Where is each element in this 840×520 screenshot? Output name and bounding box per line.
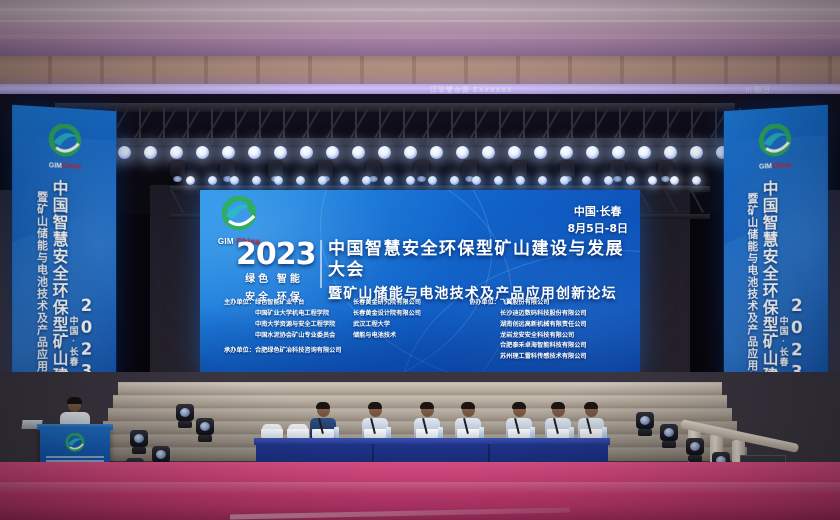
banner-left-logo-gim: GIM xyxy=(49,162,62,170)
led-slogan-line1: 绿色 智能 xyxy=(236,273,312,288)
par-light xyxy=(692,176,701,185)
moving-head-lens xyxy=(156,450,166,459)
banner-left-city: 中国·长春 xyxy=(68,315,77,366)
led-cohost-block: 协办单位： 飞翼股份有限公司 长沙迪迈数码科技股份有限公司 湖南创远高新机械有限… xyxy=(469,298,630,363)
gim-wordmark-gim: GIM xyxy=(218,237,234,246)
moving-head-lens xyxy=(664,428,674,437)
led-city: 中国·长春 xyxy=(567,204,628,221)
par-light xyxy=(378,146,391,159)
par-light xyxy=(456,146,469,159)
table-nameplate xyxy=(261,429,283,438)
floor-moving-head-light xyxy=(636,412,654,436)
led-host-item: 中国矿业大学机电工程学院 xyxy=(255,309,353,320)
banner-right-logo-gim: GIM xyxy=(759,163,772,171)
moving-head-light xyxy=(170,160,185,179)
moving-head-body xyxy=(636,412,654,429)
led-dates: 8月5日-8日 xyxy=(567,221,628,238)
moving-head-base xyxy=(178,421,192,428)
par-light xyxy=(222,146,235,159)
par-light xyxy=(340,176,349,185)
par-light xyxy=(582,176,591,185)
moving-head-lens xyxy=(134,434,144,443)
par-light xyxy=(274,176,283,185)
par-light xyxy=(326,146,339,159)
led-host-label: 主办单位： xyxy=(224,298,255,341)
podium-logo xyxy=(62,433,88,455)
par-light xyxy=(638,146,651,159)
ceiling-band xyxy=(0,34,840,39)
led-cohost-label: 协办单位： xyxy=(469,298,500,363)
led-host-row: 主办单位： 绿色智能矿业平台 中国矿业大学机电工程学院 中南大学资源与安全工程学… xyxy=(224,298,469,341)
moving-head-base xyxy=(198,435,212,442)
moving-head-lens xyxy=(690,442,700,451)
par-light xyxy=(248,146,261,159)
gim-swoosh-icon xyxy=(754,123,797,163)
light-strip-text-right: 川 烟 彐 xyxy=(745,85,805,94)
led-cohost-item: 飞翼股份有限公司 xyxy=(500,298,630,309)
par-light xyxy=(626,176,635,185)
floor-moving-head-light xyxy=(196,418,214,442)
banner-left-year: 2023 xyxy=(77,296,94,384)
led-host-item: 长春黄金研究院有限公司 xyxy=(353,298,445,309)
carpet-highlight xyxy=(0,482,840,494)
par-light xyxy=(534,146,547,159)
red-carpet xyxy=(0,462,840,520)
participant-hair xyxy=(316,402,330,409)
led-host-item: 中南大学资源与安全工程学院 xyxy=(255,320,353,331)
banner-left-logo: GIMChina xyxy=(43,123,86,171)
floor-moving-head-light xyxy=(660,424,678,448)
moving-head-light xyxy=(610,160,625,179)
par-light xyxy=(406,176,415,185)
par-light xyxy=(230,176,239,185)
led-year-block: 2023 绿色 智能 安全 环保 xyxy=(236,240,312,305)
par-light xyxy=(300,146,313,159)
led-cohost-item: 苏州理工雷科传感技术有限公司 xyxy=(500,352,630,363)
led-host-item: 武汉工程大学 xyxy=(353,320,445,331)
ceiling-band xyxy=(0,20,840,22)
par-light xyxy=(170,146,183,159)
moving-head-body xyxy=(130,430,148,447)
led-cohost-list: 飞翼股份有限公司 长沙迪迈数码科技股份有限公司 湖南创远高新机械有限责任公司 龙… xyxy=(500,298,630,363)
moving-head-lens xyxy=(640,416,650,425)
led-cohost-item: 龙岩龙安安全科技有限公司 xyxy=(500,331,630,342)
moving-head-body xyxy=(196,418,214,435)
par-light xyxy=(318,176,327,185)
par-light xyxy=(538,176,547,185)
led-cohost-item: 合肥泰禾卓海智能科技有限公司 xyxy=(500,341,630,352)
par-light xyxy=(404,146,417,159)
led-host-col2: 长春黄金研究院有限公司 长春黄金设计院有限公司 武汉工程大学 储能与电池技术 xyxy=(353,298,445,341)
led-host-item: 储能与电池技术 xyxy=(353,331,445,342)
led-host-item: 绿色智能矿业平台 xyxy=(255,298,353,309)
moving-head-base xyxy=(688,455,702,462)
led-year: 2023 xyxy=(236,240,312,270)
moving-head-body xyxy=(660,424,678,441)
moving-head-lens xyxy=(180,408,190,417)
par-light xyxy=(384,176,393,185)
par-light xyxy=(430,146,443,159)
moving-head-base xyxy=(638,429,652,436)
led-cohost-item: 湖南创远高新机械有限责任公司 xyxy=(500,320,630,331)
banner-right-logo: GIMChina xyxy=(754,123,797,171)
gim-mark xyxy=(217,196,261,236)
gim-swoosh-icon xyxy=(217,196,261,236)
banner-left-logo-china: China xyxy=(62,163,81,171)
venue-ceiling xyxy=(0,0,840,58)
speaker-hair xyxy=(67,397,82,404)
table-nameplate xyxy=(287,429,309,438)
moving-head-body xyxy=(686,438,704,455)
led-title-block: 中国智慧安全环保型矿山建设与发展大会 暨矿山储能与电池技术及产品应用创新论坛 xyxy=(328,238,630,302)
overhead-truss-top-chord xyxy=(55,103,735,112)
stage-step xyxy=(118,382,722,396)
moving-head-base xyxy=(662,441,676,448)
led-place-block: 中国·长春 8月5日-8日 xyxy=(567,204,628,237)
ceiling-band xyxy=(0,8,840,11)
led-host-item: 长春黄金设计院有限公司 xyxy=(353,309,445,320)
participant-hair xyxy=(512,402,526,409)
podium-title-line xyxy=(46,456,104,458)
participant-hair xyxy=(420,402,434,409)
participant-hair xyxy=(461,402,475,409)
par-light xyxy=(482,146,495,159)
par-light xyxy=(494,176,503,185)
par-light xyxy=(612,146,625,159)
led-organizer-row: 承办单位： 合肥绿色矿冶科技咨询有限公司 xyxy=(224,346,469,357)
moving-head-light xyxy=(414,160,429,179)
participant-hair xyxy=(368,402,382,409)
par-light xyxy=(362,176,371,185)
moving-head-lens xyxy=(200,422,210,431)
floor-moving-head-light xyxy=(686,438,704,462)
gim-swoosh-icon xyxy=(43,123,86,163)
par-light xyxy=(472,176,481,185)
floor-moving-head-light xyxy=(130,430,148,454)
led-organizer-value: 合肥绿色矿冶科技咨询有限公司 xyxy=(255,346,342,357)
led-hosts-block: 主办单位： 绿色智能矿业平台 中国矿业大学机电工程学院 中南大学资源与安全工程学… xyxy=(224,298,469,363)
led-title-main: 中国智慧安全环保型矿山建设与发展大会 xyxy=(328,238,630,281)
main-led-screen: GIM China 中国·长春 8月5日-8日 2023 绿色 智能 安全 环保… xyxy=(200,190,640,375)
moving-head-base xyxy=(132,447,146,454)
par-light xyxy=(208,176,217,185)
par-light xyxy=(186,176,195,185)
par-light xyxy=(664,146,677,159)
par-light xyxy=(450,176,459,185)
par-light xyxy=(428,176,437,185)
led-host-item: 中国水泥协会矿山专业委员会 xyxy=(255,331,353,342)
par-light xyxy=(690,146,703,159)
floor-moving-head-light xyxy=(176,404,194,428)
participant-hair xyxy=(584,402,598,409)
led-organizer-label: 承办单位： xyxy=(224,346,255,357)
banner-right-logo-china: China xyxy=(772,162,791,170)
par-light xyxy=(604,176,613,185)
par-light xyxy=(508,146,521,159)
par-light xyxy=(144,146,157,159)
par-light xyxy=(296,176,305,185)
light-strip-text: 江苏鑫华能 EXXXXXX xyxy=(430,85,610,94)
par-light xyxy=(648,176,657,185)
gim-swoosh-icon xyxy=(62,433,88,455)
carpet-seam xyxy=(230,507,570,519)
par-light xyxy=(560,146,573,159)
moving-head-body xyxy=(176,404,194,421)
conference-stage-photo: 江苏鑫华能 EXXXXXX 川 烟 彐 GIMChina 2023 xyxy=(0,0,840,520)
par-light xyxy=(118,146,131,159)
led-cohost-item: 长沙迪迈数码科技股份有限公司 xyxy=(500,309,630,320)
par-light xyxy=(274,146,287,159)
upper-wall-band xyxy=(0,56,840,86)
led-title-divider xyxy=(320,240,322,288)
par-light xyxy=(560,176,569,185)
par-light xyxy=(586,146,599,159)
par-light xyxy=(352,146,365,159)
participant-hair xyxy=(551,402,565,409)
par-light xyxy=(196,146,209,159)
led-host-col1: 绿色智能矿业平台 中国矿业大学机电工程学院 中南大学资源与安全工程学院 中国水泥… xyxy=(255,298,353,341)
led-organizations: 主办单位： 绿色智能矿业平台 中国矿业大学机电工程学院 中南大学资源与安全工程学… xyxy=(224,298,630,363)
par-light xyxy=(670,176,679,185)
overhead-truss-bottom-chord xyxy=(55,138,735,145)
moving-head-body xyxy=(152,446,170,463)
par-light xyxy=(516,176,525,185)
par-light xyxy=(252,176,261,185)
